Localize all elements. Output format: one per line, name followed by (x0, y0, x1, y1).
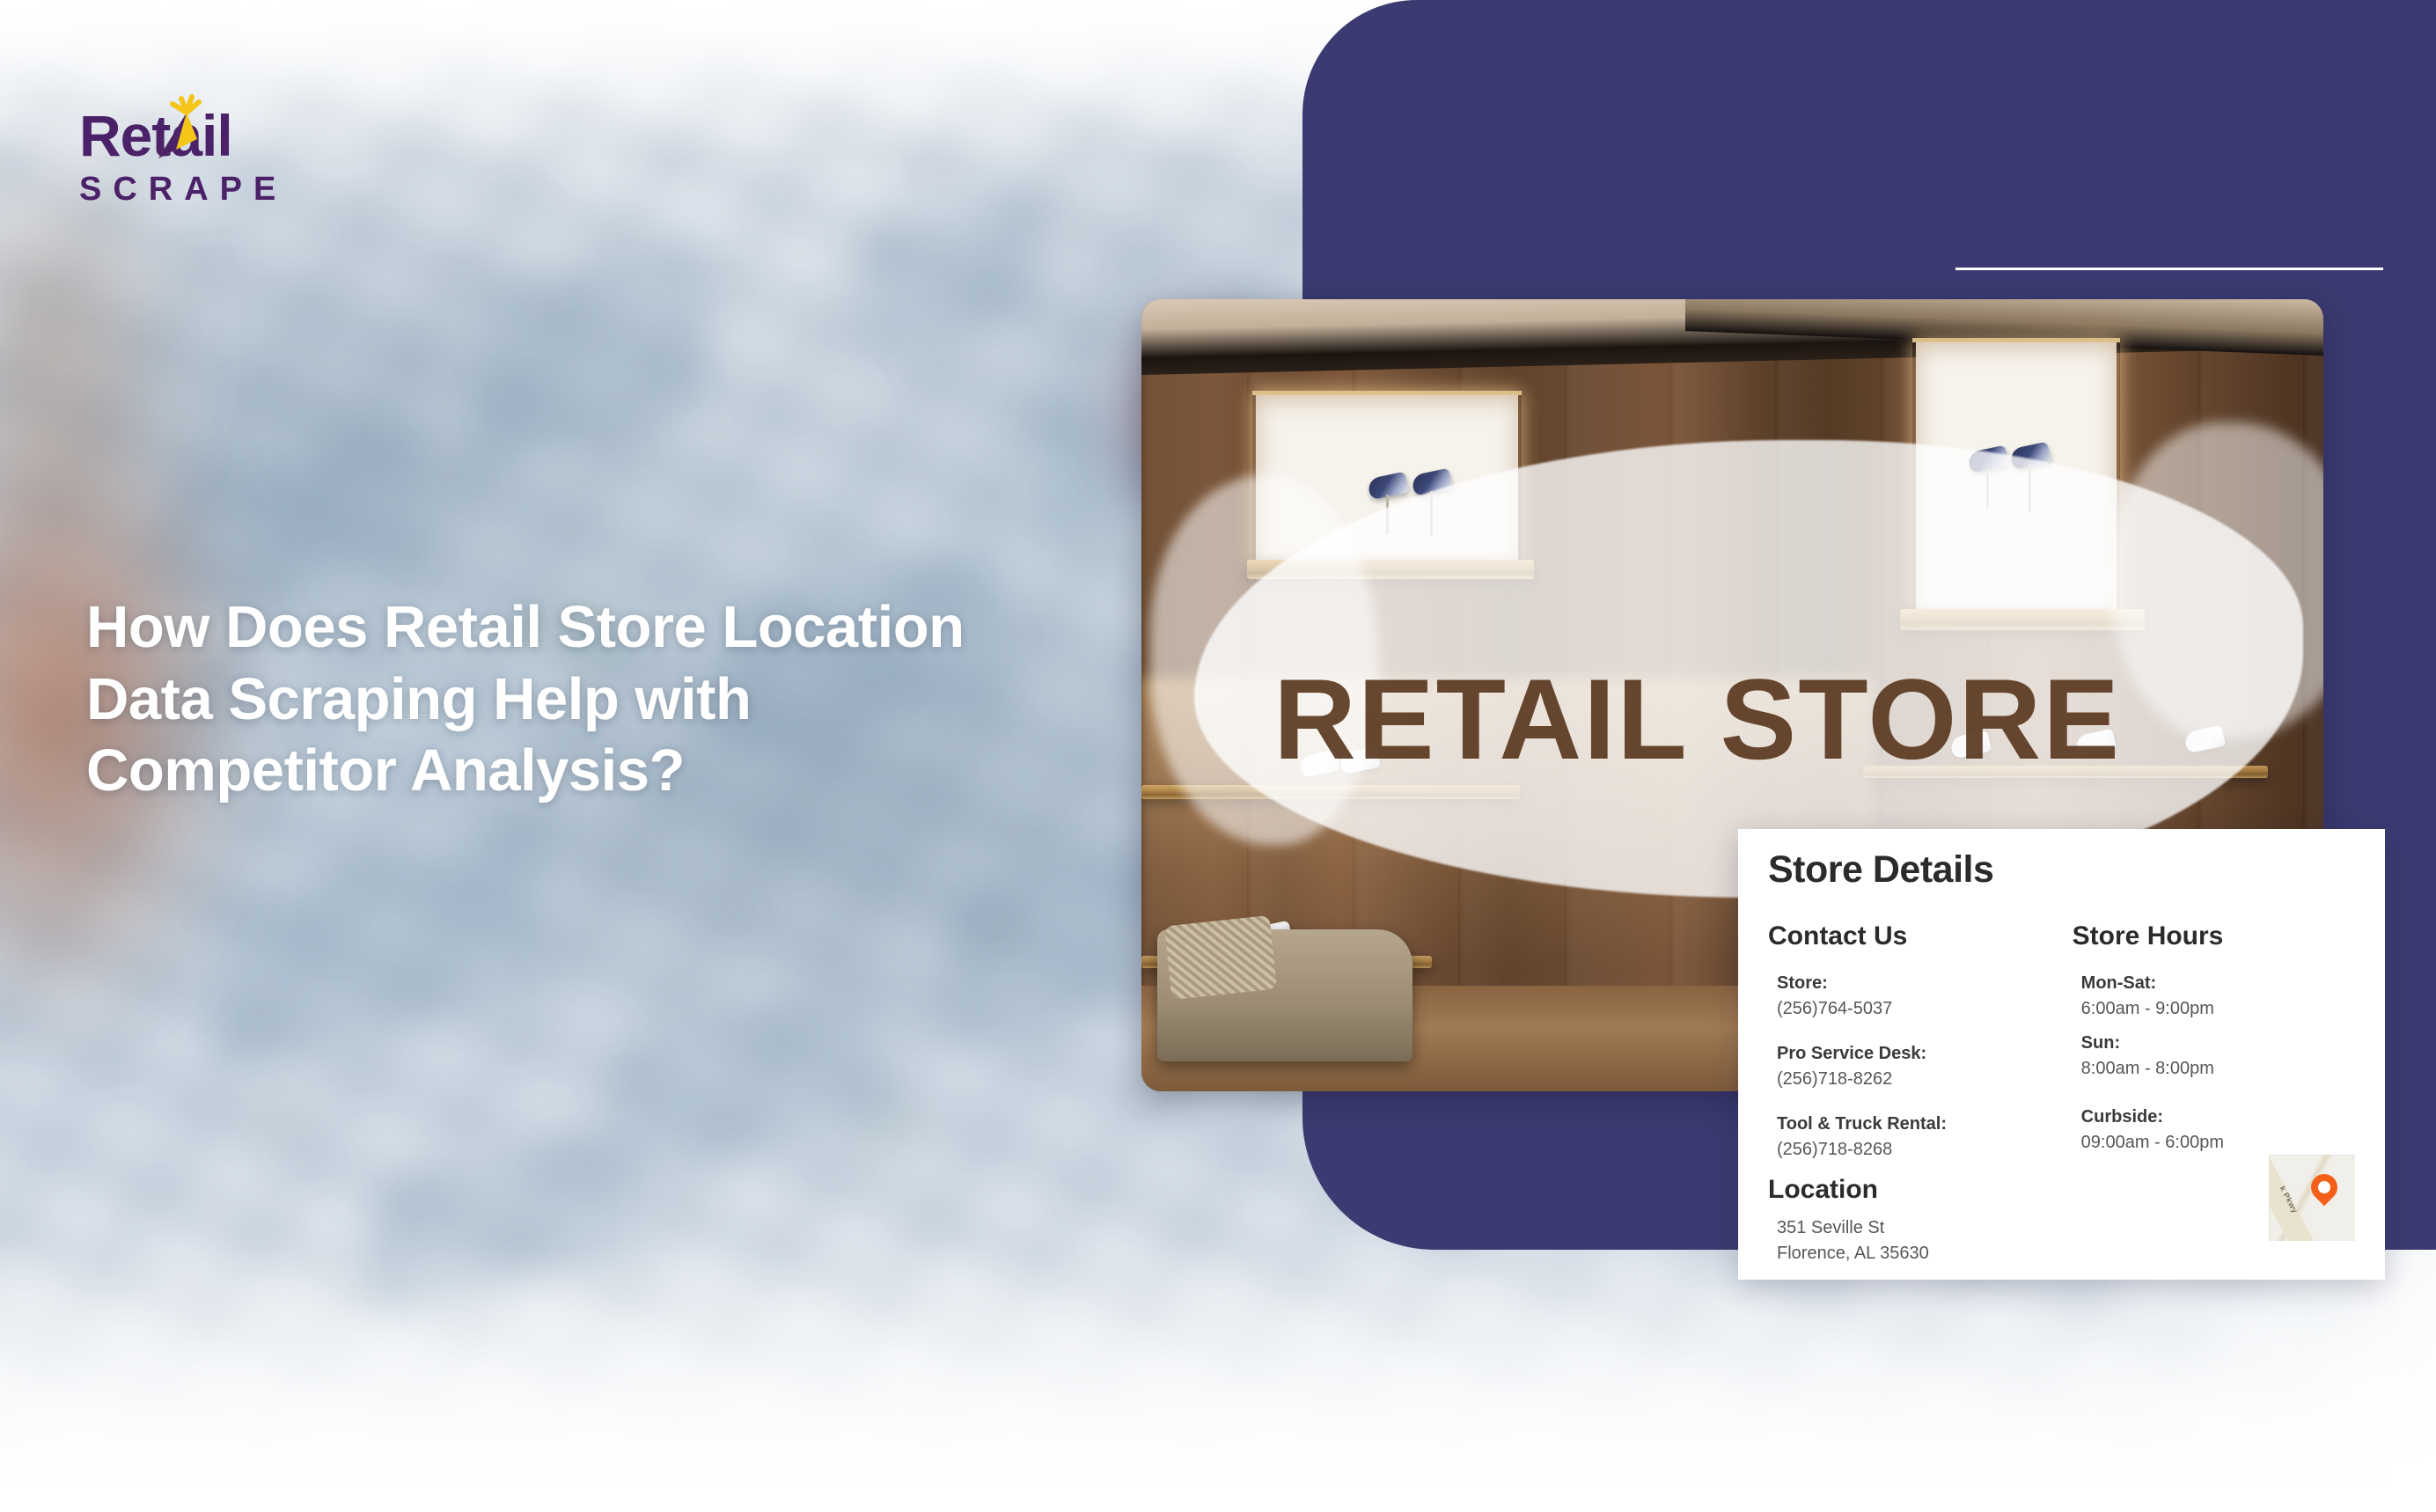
store-details-title: Store Details (1768, 848, 2355, 892)
hours-label: Sun: (2081, 1031, 2355, 1056)
photo-bench-seat (1157, 929, 1412, 1061)
photo-overlay-title: RETAIL STORE (1273, 653, 2121, 785)
page-title: How Does Retail Store Location Data Scra… (86, 591, 1019, 807)
contact-heading: Contact Us (1768, 921, 2073, 951)
background-fade-bottom (0, 1248, 2436, 1512)
hours-column: Store Hours Mon-Sat: 6:00am - 9:00pm Sun… (2073, 921, 2355, 1163)
address-line-2: Florence, AL 35630 (1777, 1241, 2355, 1266)
hours-item: Curbside: 09:00am - 6:00pm (2073, 1105, 2355, 1156)
hours-item: Sun: 8:00am - 8:00pm (2073, 1031, 2355, 1082)
store-details-columns: Contact Us Store: (256)764-5037 Pro Serv… (1768, 921, 2355, 1163)
hours-label: Curbside: (2081, 1105, 2355, 1130)
brand-logo-top: Retail (79, 104, 287, 167)
hours-value: 09:00am - 6:00pm (2081, 1130, 2355, 1156)
divider-line (1955, 268, 2383, 270)
contact-column: Contact Us Store: (256)764-5037 Pro Serv… (1768, 921, 2073, 1163)
party-popper-icon (141, 93, 222, 165)
hours-item: Mon-Sat: 6:00am - 9:00pm (2073, 971, 2355, 1022)
contact-label: Pro Service Desk: (1777, 1041, 2073, 1067)
location-section: Location 351 Seville St Florence, AL 356… (1768, 1175, 2355, 1266)
contact-label: Store: (1777, 971, 2073, 996)
contact-item: Store: (256)764-5037 (1768, 971, 2073, 1022)
location-heading: Location (1768, 1175, 2355, 1205)
brand-logo[interactable]: Retail SCRAPE (79, 104, 287, 209)
store-details-card: Store Details Contact Us Store: (256)764… (1738, 829, 2385, 1280)
contact-value[interactable]: (256)718-8262 (1777, 1067, 2073, 1092)
map-thumbnail[interactable]: k Pkwy (2269, 1155, 2355, 1241)
contact-value[interactable]: (256)764-5037 (1777, 996, 2073, 1022)
contact-label: Tool & Truck Rental: (1777, 1112, 2073, 1137)
contact-value[interactable]: (256)718-8268 (1777, 1137, 2073, 1163)
map-pin-icon (2306, 1169, 2343, 1206)
contact-item: Tool & Truck Rental: (256)718-8268 (1768, 1112, 2073, 1163)
contact-item: Pro Service Desk: (256)718-8262 (1768, 1041, 2073, 1092)
hours-heading: Store Hours (2073, 921, 2355, 951)
hours-value: 8:00am - 8:00pm (2081, 1056, 2355, 1082)
hours-label: Mon-Sat: (2081, 971, 2355, 996)
brand-tagline: SCRAPE (79, 171, 287, 209)
location-address: 351 Seville St Florence, AL 35630 (1768, 1215, 2355, 1266)
hours-value: 6:00am - 9:00pm (2081, 996, 2355, 1022)
